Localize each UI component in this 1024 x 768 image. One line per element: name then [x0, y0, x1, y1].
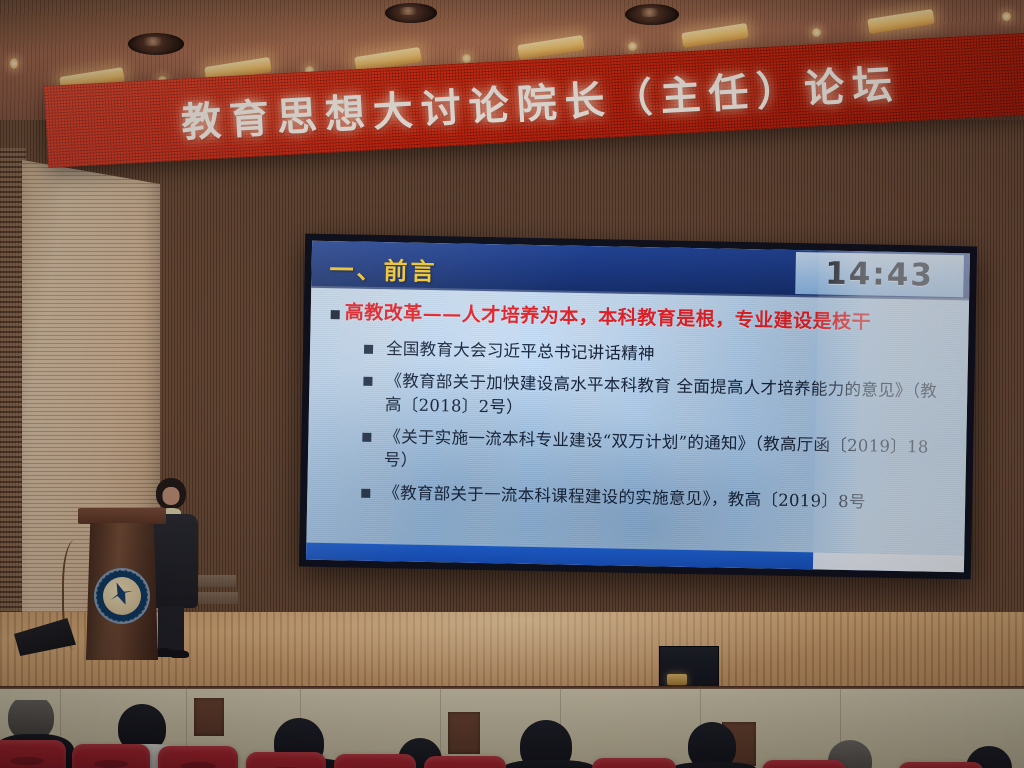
- list-item: 《教育部关于加快建设高水平本科教育 全面提高人才培养能力的意见》（教高〔2018…: [363, 369, 952, 427]
- sub-bullet-text: 《教育部关于加快建设高水平本科教育 全面提高人才培养能力的意见》（教高〔2018…: [385, 369, 952, 427]
- bullet-square-icon: [331, 310, 340, 319]
- audience-shoulders: [504, 760, 594, 768]
- podium-top: [78, 508, 166, 524]
- ceiling-speaker-fixture: [128, 33, 184, 55]
- projection-screen: 一、前言 14:43 高教改革——人才培养为本，本科教育是根，专业建设是枝干 全…: [299, 234, 977, 580]
- audience-seat: [762, 760, 846, 768]
- sub-bullet-text: 《教育部关于一流本科课程建设的实施意见》，教高〔2019〕8号: [383, 481, 866, 514]
- apron-top-edge: [0, 686, 1024, 689]
- audience-seat: [72, 744, 150, 768]
- audience-seat: [592, 758, 676, 768]
- slide-clock: 14:43: [795, 252, 964, 297]
- list-item: 全国教育大会习近平总书记讲话精神: [364, 336, 952, 371]
- audience-shoulders: [672, 762, 756, 768]
- presenter-shoe: [170, 650, 189, 658]
- ceiling-downlight: [1002, 12, 1011, 21]
- ceiling-downlight: [628, 42, 637, 51]
- auditorium-scene: 教育思想大讨论院长（主任）论坛 一、前言 14:43 高教改革——人才培养为本，…: [0, 0, 1024, 768]
- bullet-square-icon: [361, 489, 370, 498]
- ceiling-speaker-fixture: [385, 3, 437, 23]
- bullet-square-icon: [364, 344, 373, 353]
- lead-bullet-row: 高教改革——人才培养为本，本科教育是根，专业建设是枝干: [331, 301, 953, 337]
- lead-bullet-text: 高教改革——人才培养为本，本科教育是根，专业建设是枝干: [345, 301, 872, 335]
- ceiling-downlight: [462, 54, 471, 63]
- sub-bullet-text: 《关于实施一流本科专业建设“双万计划”的通知》（教高厅函〔2019〕18号）: [384, 425, 951, 483]
- bullet-square-icon: [362, 433, 371, 442]
- list-item: 《教育部关于一流本科课程建设的实施意见》，教高〔2019〕8号: [361, 481, 949, 516]
- presenter-face: [163, 487, 180, 505]
- slide-body: 高教改革——人才培养为本，本科教育是根，专业建设是枝干 全国教育大会习近平总书记…: [306, 293, 969, 547]
- audience-seating: [0, 700, 1024, 768]
- list-item: 《关于实施一流本科专业建设“双万计划”的通知》（教高厅函〔2019〕18号）: [362, 425, 951, 483]
- university-emblem: [94, 568, 150, 624]
- ceiling-speaker-fixture: [625, 4, 679, 25]
- confidence-monitor: [659, 646, 719, 688]
- audience-seat: [246, 752, 326, 768]
- audience-seat: [0, 740, 66, 768]
- audience-seat: [424, 756, 506, 768]
- slide-title: 一、前言: [329, 250, 438, 287]
- sub-bullet-text: 全国教育大会习近平总书记讲话精神: [386, 337, 655, 366]
- ceiling-downlight: [10, 58, 18, 69]
- bullet-square-icon: [363, 377, 372, 386]
- monitor-indicator: [667, 674, 687, 684]
- clock-time: 14:43: [825, 256, 934, 294]
- sub-bullet-list: 全国教育大会习近平总书记讲话精神 《教育部关于加快建设高水平本科教育 全面提高人…: [327, 336, 952, 515]
- audience-seat: [158, 746, 238, 768]
- audience-seat: [898, 762, 984, 768]
- screen-surface: 一、前言 14:43 高教改革——人才培养为本，本科教育是根，专业建设是枝干 全…: [306, 241, 970, 573]
- audience-seat: [334, 754, 416, 768]
- ceiling-downlight: [812, 28, 821, 37]
- projector-overlap-footer: [813, 552, 965, 572]
